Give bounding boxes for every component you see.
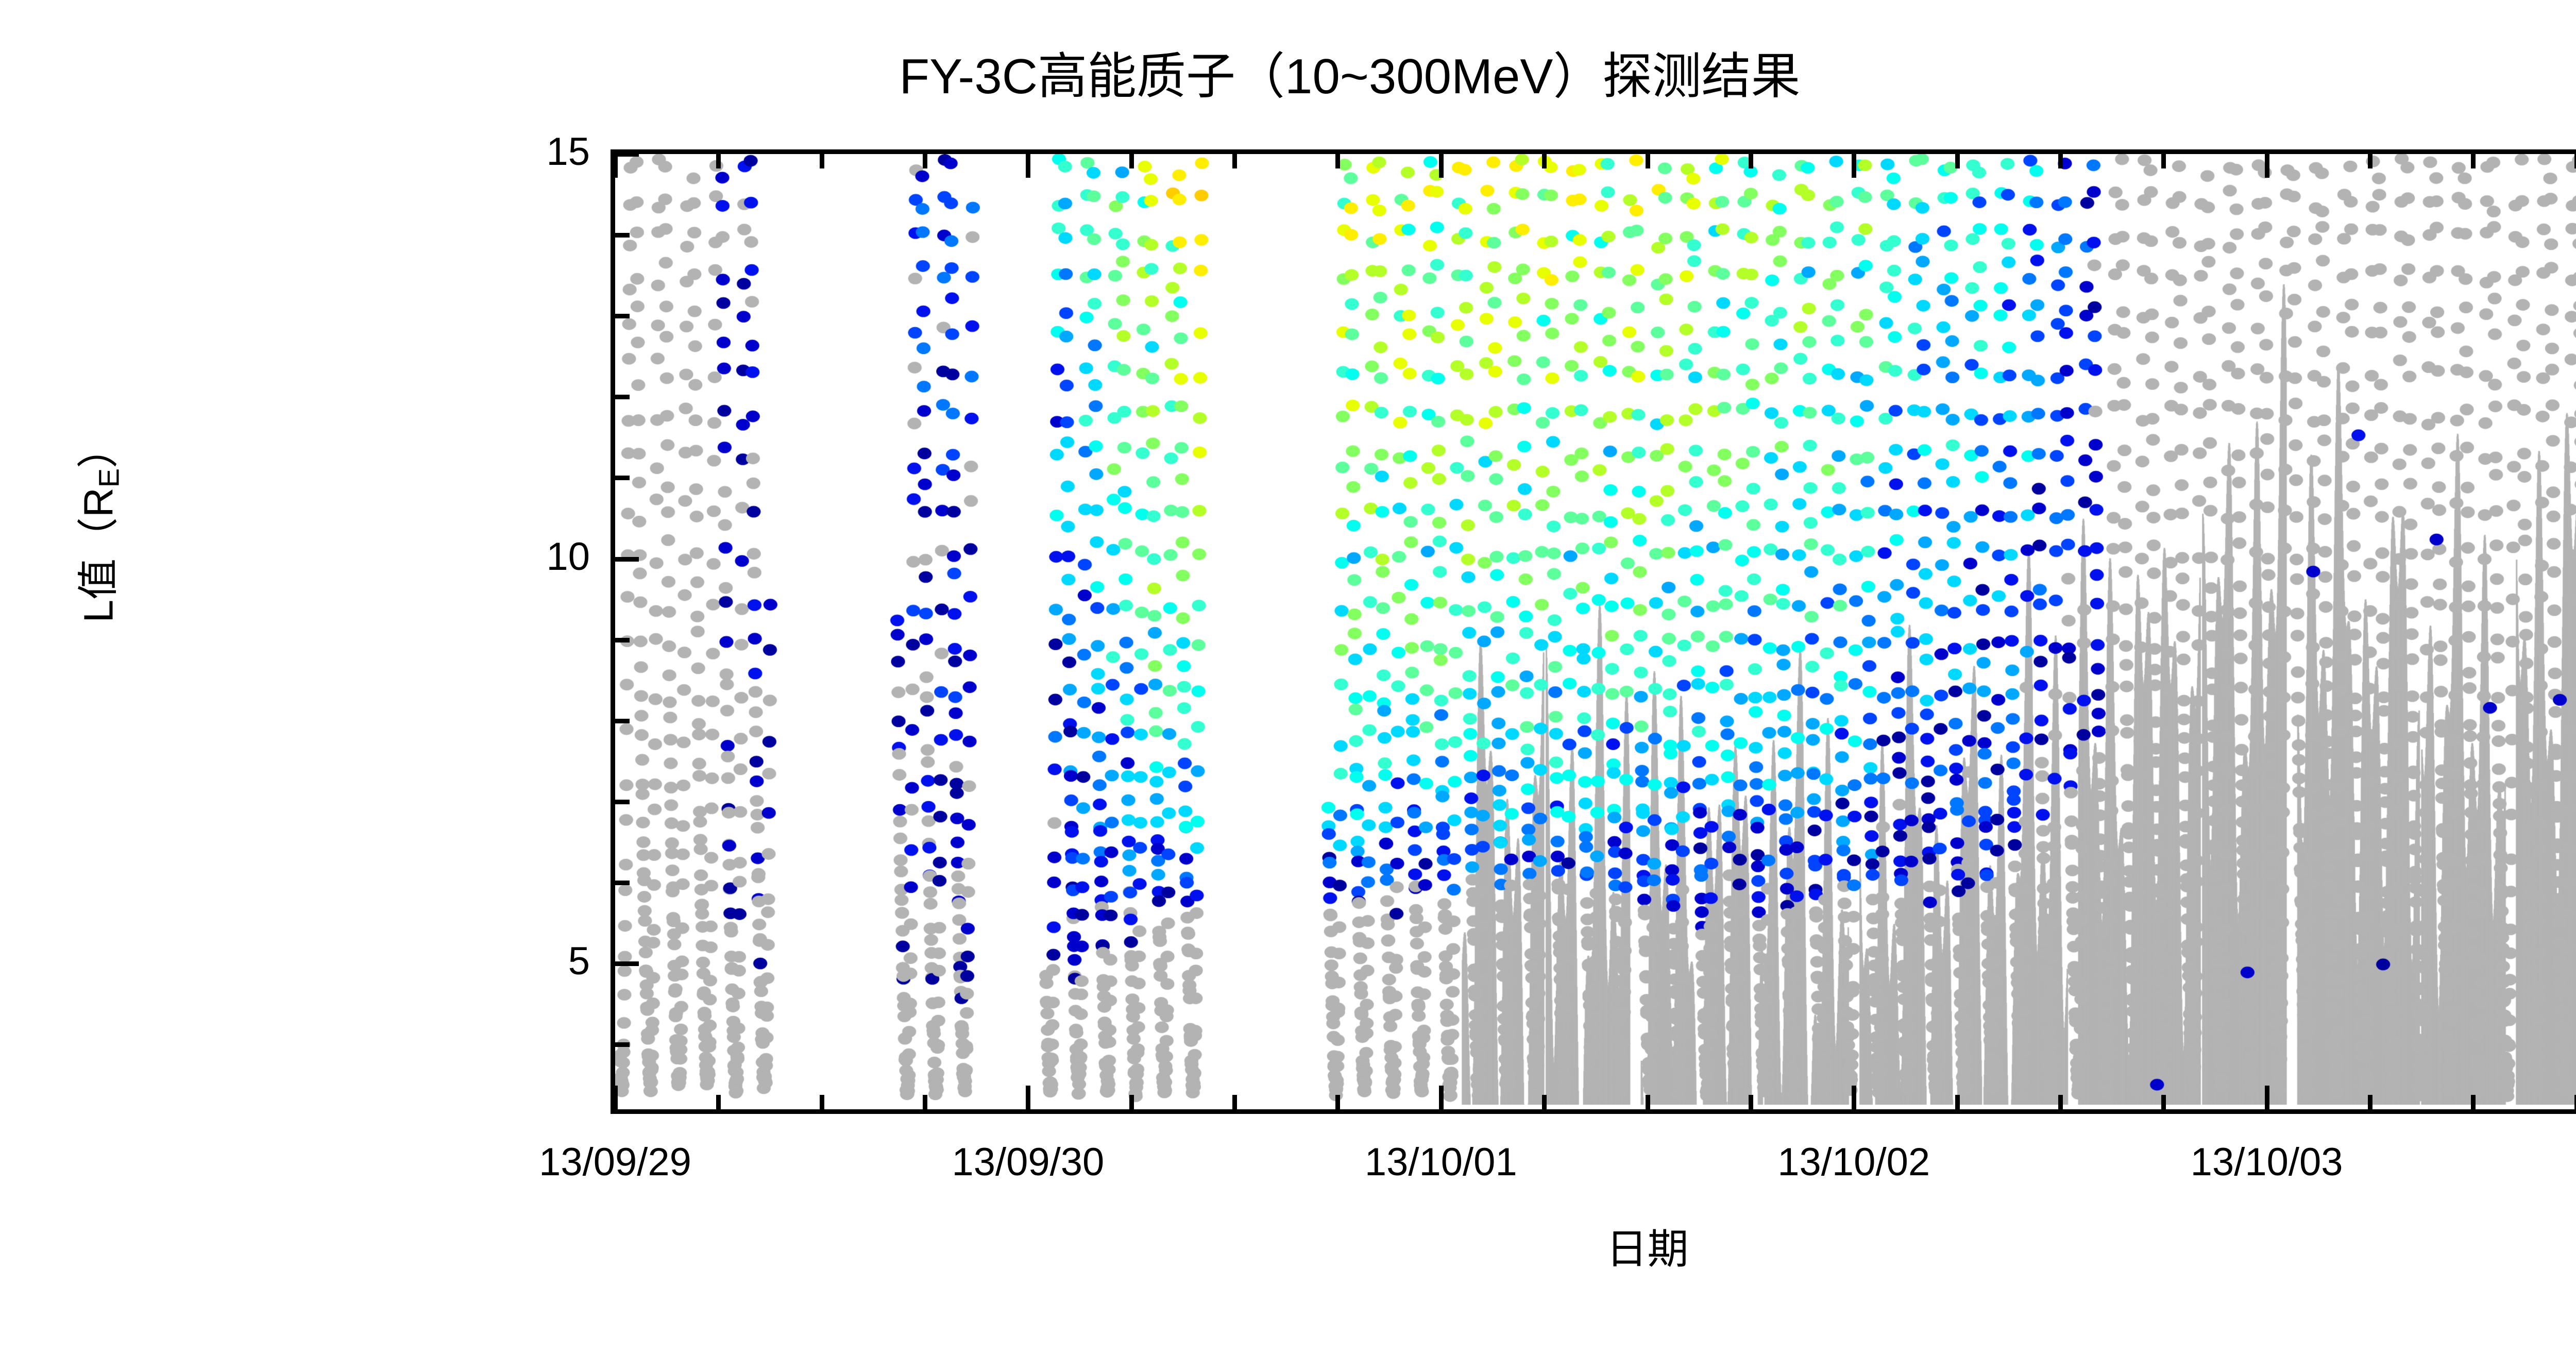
y-tick-label-15: 15 (466, 129, 590, 174)
x-tick-label-13/10/03: 13/10/03 (2112, 1140, 2421, 1185)
x-tick-top-4.50 (2471, 154, 2476, 168)
x-tick-top-4.25 (2368, 154, 2372, 168)
x-tick-3.00 (1852, 1086, 1856, 1109)
x-tick-4.00 (2265, 1086, 2269, 1109)
y-tick-8 (615, 719, 630, 723)
x-tick-2.75 (1749, 1095, 1753, 1109)
x-tick-3.50 (2058, 1095, 2063, 1109)
y-tick-10 (615, 557, 639, 562)
x-tick-top-2.25 (1542, 154, 1547, 168)
y-tick-label-5: 5 (466, 939, 590, 984)
x-tick-top-1.50 (1232, 154, 1237, 168)
x-tick-top-0.75 (923, 154, 927, 168)
x-tick-4.50 (2471, 1095, 2476, 1109)
x-tick-top-1.25 (1129, 154, 1134, 168)
x-tick-top-3.00 (1852, 154, 1856, 178)
x-tick-4.25 (2368, 1095, 2372, 1109)
x-axis-title: 日期 (611, 1216, 2576, 1276)
plot-area (611, 149, 2576, 1114)
y-tick-12 (615, 395, 630, 399)
x-tick-top-2.50 (1646, 154, 1650, 168)
y-tick-4 (615, 1042, 630, 1047)
x-tick-0.50 (820, 1095, 824, 1109)
x-tick-top-3.75 (2161, 154, 2166, 168)
x-tick-1.50 (1232, 1095, 1237, 1109)
x-tick-top-0.50 (820, 154, 824, 168)
x-tick-label-13/10/04: 13/10/04 (2525, 1140, 2576, 1185)
x-tick-top-3.50 (2058, 154, 2063, 168)
x-tick-0.25 (716, 1095, 721, 1109)
scatter-canvas (615, 154, 2576, 1109)
x-tick-top-1.75 (1335, 154, 1340, 168)
x-tick-0.00 (613, 1086, 618, 1109)
x-tick-top-2.75 (1749, 154, 1753, 168)
x-tick-2.25 (1542, 1095, 1547, 1109)
x-tick-2.00 (1439, 1086, 1444, 1109)
y-tick-11 (615, 476, 630, 480)
x-tick-label-13/10/01: 13/10/01 (1286, 1140, 1596, 1185)
x-tick-top-0.25 (716, 154, 721, 168)
y-tick-5 (615, 961, 639, 966)
x-tick-1.25 (1129, 1095, 1134, 1109)
x-tick-top-0.00 (613, 154, 618, 178)
y-tick-15 (615, 152, 639, 157)
y-tick-13 (615, 314, 630, 318)
y-tick-6 (615, 881, 630, 885)
x-tick-top-2.00 (1439, 154, 1444, 178)
x-tick-3.75 (2161, 1095, 2166, 1109)
x-tick-top-3.25 (1955, 154, 1960, 168)
x-tick-0.75 (923, 1095, 927, 1109)
x-tick-1.75 (1335, 1095, 1340, 1109)
y-tick-9 (615, 638, 630, 642)
y-tick-label-10: 10 (466, 534, 590, 579)
x-tick-top-4.00 (2265, 154, 2269, 178)
x-tick-4.75 (2574, 1095, 2576, 1109)
x-tick-top-1.00 (1026, 154, 1030, 178)
y-axis-title-tail: ） (75, 427, 121, 468)
x-tick-2.50 (1646, 1095, 1650, 1109)
x-tick-3.25 (1955, 1095, 1960, 1109)
x-tick-label-13/09/29: 13/09/29 (461, 1140, 770, 1185)
y-axis-title: L值（RE） (65, 293, 125, 757)
x-tick-top-4.75 (2574, 154, 2576, 168)
x-tick-label-13/10/02: 13/10/02 (1699, 1140, 2008, 1185)
figure-root: FY-3C高能质子（10~300MeV）探测结果 5101513/09/2913… (0, 0, 2576, 1353)
y-axis-title-sub: E (93, 468, 125, 487)
y-tick-7 (615, 800, 630, 804)
y-tick-14 (615, 233, 630, 238)
page-title: FY-3C高能质子（10~300MeV）探测结果 (0, 36, 2576, 108)
x-tick-label-13/09/30: 13/09/30 (873, 1140, 1182, 1185)
x-tick-1.00 (1026, 1086, 1030, 1109)
y-axis-title-main: L值（R (75, 487, 121, 622)
